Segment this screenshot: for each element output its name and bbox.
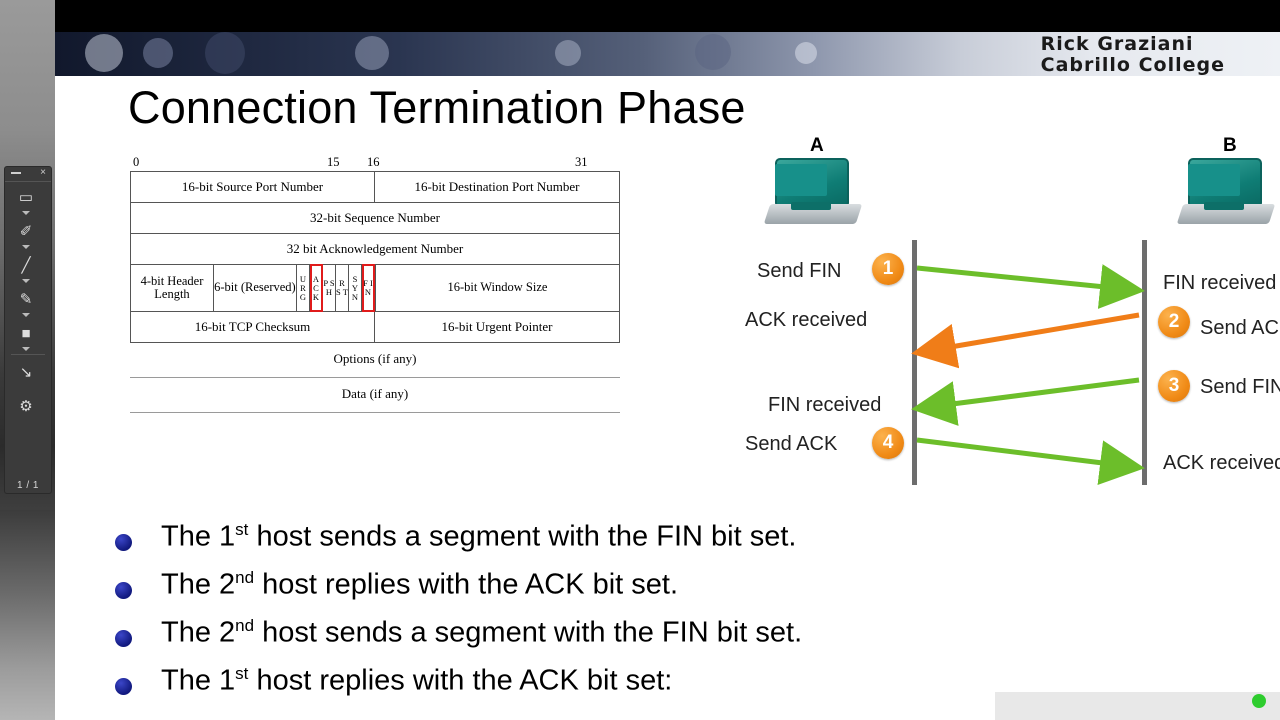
chevron-down-icon[interactable] — [22, 245, 30, 249]
tool-ruler[interactable]: ↘ — [5, 357, 51, 391]
ruler-tick-31: 31 — [575, 155, 588, 170]
bullet-sup: nd — [235, 616, 254, 635]
bullet-text-3: The 2nd host sends a segment with the FI… — [161, 616, 802, 650]
banner-graphic — [555, 40, 581, 66]
cell-options: Options (if any) — [130, 343, 620, 378]
eraser-icon: ▭ — [13, 186, 39, 208]
slide: Rick Graziani Cabrillo College Connectio… — [55, 0, 1280, 720]
flag-rst: R S T — [336, 265, 349, 311]
bullet-dot-icon — [115, 534, 132, 551]
cell-header-length: 4-bit Header Length — [131, 265, 214, 311]
tcp-table-wrapper: 16-bit Source Port Number 16-bit Destina… — [130, 171, 620, 413]
chevron-down-icon[interactable] — [22, 313, 30, 317]
screenshot-root: × ▭ ✐ ╱ ✎ ■ ↘ ⚙ 1 / 1 — [0, 0, 1280, 720]
bullet-sup: st — [235, 664, 248, 683]
flag-ack: A C K — [310, 265, 323, 311]
close-icon[interactable]: × — [40, 168, 46, 178]
bullet-text-2: The 2nd host replies with the ACK bit se… — [161, 568, 678, 602]
label-send-fin-b: Send FIN — [1200, 376, 1280, 399]
flag-urg: U R G — [297, 265, 310, 311]
bit-ruler: 0 15 16 31 — [75, 155, 642, 171]
step-badge-1: 1 — [872, 253, 904, 285]
flag-syn: S Y N — [349, 265, 362, 311]
tool-pencil[interactable]: ✎ — [5, 284, 51, 318]
pen-icon: ╱ — [13, 254, 39, 276]
cell-urgent-pointer: 16-bit Urgent Pointer — [375, 312, 619, 342]
label-ack-received-b: ACK received — [1163, 452, 1280, 475]
tcp-header-diagram: 0 15 16 31 16-bit Source Port Number 16-… — [75, 155, 642, 413]
bullet-text-4: The 1st host replies with the ACK bit se… — [161, 664, 672, 698]
cell-checksum: 16-bit TCP Checksum — [131, 312, 375, 342]
page-indicator: 1 / 1 — [5, 480, 51, 491]
step-badge-4: 4 — [872, 427, 904, 459]
cell-window-size: 16-bit Window Size — [375, 265, 619, 311]
table-row: 32 bit Acknowledgement Number — [131, 234, 619, 265]
table-row: 16-bit TCP Checksum 16-bit Urgent Pointe… — [131, 312, 619, 343]
bullet-pre: The 2 — [161, 617, 235, 649]
slide-top-black-bar — [55, 0, 1280, 32]
cell-reserved: 6-bit (Reserved) — [214, 265, 297, 311]
presentation-banner: Rick Graziani Cabrillo College — [55, 32, 1280, 76]
toolbar-divider — [11, 354, 45, 355]
table-row: 16-bit Source Port Number 16-bit Destina… — [131, 172, 619, 203]
pencil-icon: ✎ — [13, 288, 39, 310]
bullet-dot-icon — [115, 630, 132, 647]
label-fin-received-b: FIN received — [1163, 272, 1276, 295]
recording-indicator-icon — [1252, 694, 1266, 708]
bullet-sup: nd — [235, 568, 254, 587]
list-item: The 2nd host sends a segment with the FI… — [115, 616, 1215, 664]
step-badge-2: 2 — [1158, 306, 1190, 338]
author-name: Rick Graziani — [1041, 34, 1225, 55]
label-fin-received-a: FIN received — [768, 394, 881, 417]
tool-settings[interactable]: ⚙ — [5, 391, 51, 425]
table-row-flags: 4-bit Header Length 6-bit (Reserved) U R… — [131, 265, 619, 312]
bullet-sup: st — [235, 520, 248, 539]
list-item: The 1st host sends a segment with the FI… — [115, 520, 1215, 568]
cell-data: Data (if any) — [130, 378, 620, 413]
label-send-ack-a: Send ACK — [745, 433, 837, 456]
cell-dest-port: 16-bit Destination Port Number — [375, 172, 619, 202]
cell-sequence-number: 32-bit Sequence Number — [131, 203, 619, 233]
bullet-text-1: The 1st host sends a segment with the FI… — [161, 520, 796, 554]
minimize-icon[interactable] — [11, 172, 21, 174]
tool-highlighter[interactable]: ✐ — [5, 216, 51, 250]
page-title: Connection Termination Phase — [128, 82, 746, 134]
bullet-dot-icon — [115, 678, 132, 695]
player-bottom-bar[interactable] — [995, 692, 1280, 720]
chevron-down-icon[interactable] — [22, 211, 30, 215]
ruler-tick-16: 16 — [367, 155, 380, 170]
settings-icon: ⚙ — [13, 395, 39, 417]
flag-fin: F I N — [362, 265, 375, 311]
chevron-down-icon[interactable] — [22, 347, 30, 351]
bullet-list: The 1st host sends a segment with the FI… — [115, 520, 1215, 712]
banner-graphic — [205, 32, 245, 74]
tool-shape[interactable]: ■ — [5, 318, 51, 352]
ruler-tick-0: 0 — [133, 155, 139, 170]
bullet-post: host replies with the ACK bit set. — [254, 569, 678, 601]
connection-termination-diagram: A B — [695, 130, 1280, 500]
step-badge-3: 3 — [1158, 370, 1190, 402]
banner-graphic — [355, 36, 389, 70]
highlighter-icon: ✐ — [13, 220, 39, 242]
author-college: Cabrillo College — [1041, 55, 1225, 76]
annotation-toolbar[interactable]: × ▭ ✐ ╱ ✎ ■ ↘ ⚙ 1 / 1 — [4, 166, 52, 494]
tool-pen[interactable]: ╱ — [5, 250, 51, 284]
banner-graphic — [795, 42, 817, 64]
bullet-post: host replies with the ACK bit set: — [248, 665, 672, 697]
label-ack-received-a: ACK received — [745, 309, 867, 332]
table-row: 32-bit Sequence Number — [131, 203, 619, 234]
bullet-dot-icon — [115, 582, 132, 599]
flag-psh: P S H — [323, 265, 336, 311]
ruler-icon: ↘ — [13, 361, 39, 383]
bullet-post: host sends a segment with the FIN bit se… — [248, 521, 796, 553]
label-send-ack-b: Send ACK — [1200, 317, 1280, 340]
flag-bits-group: U R G A C K P S H R S T S Y N F I N — [297, 265, 375, 311]
bullet-pre: The 1 — [161, 665, 235, 697]
chevron-down-icon[interactable] — [22, 279, 30, 283]
label-send-fin-a: Send FIN — [757, 260, 841, 283]
banner-graphic — [695, 34, 731, 70]
cell-source-port: 16-bit Source Port Number — [131, 172, 375, 202]
bullet-pre: The 1 — [161, 521, 235, 553]
bullet-post: host sends a segment with the FIN bit se… — [254, 617, 802, 649]
bullet-pre: The 2 — [161, 569, 235, 601]
toolbar-titlebar[interactable]: × — [5, 167, 51, 182]
banner-graphic — [143, 38, 173, 68]
list-item: The 2nd host replies with the ACK bit se… — [115, 568, 1215, 616]
tool-eraser[interactable]: ▭ — [5, 182, 51, 216]
cell-ack-number: 32 bit Acknowledgement Number — [131, 234, 619, 264]
tcp-table: 16-bit Source Port Number 16-bit Destina… — [130, 171, 620, 343]
banner-author: Rick Graziani Cabrillo College — [1041, 34, 1225, 76]
banner-graphic — [85, 34, 123, 72]
ruler-tick-15: 15 — [327, 155, 340, 170]
left-panel-photo — [0, 510, 55, 720]
shape-icon: ■ — [13, 322, 39, 344]
